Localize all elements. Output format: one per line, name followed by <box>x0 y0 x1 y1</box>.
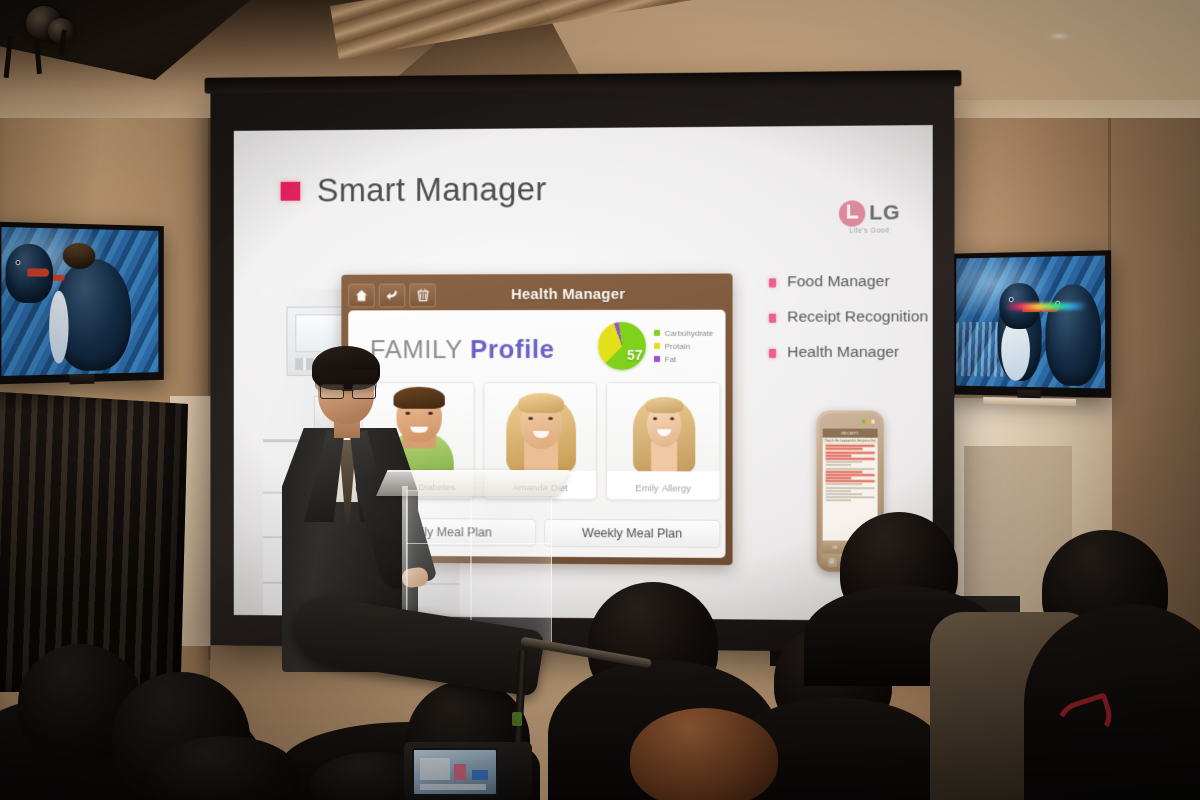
lg-face-icon <box>839 200 865 226</box>
lg-tagline: Life's Good <box>839 227 900 234</box>
audience-head-bald <box>630 708 778 800</box>
legend-label: Carbohydrate <box>665 328 714 337</box>
phone-status-icons <box>862 420 874 424</box>
lcd-content <box>420 758 450 780</box>
pie-legend: Carbohydrate Protain Fat <box>654 328 714 363</box>
lg-mark: LG <box>839 200 900 227</box>
lcd-content-pink <box>454 764 466 780</box>
legend-label: Protain <box>665 341 690 350</box>
receipt-row <box>826 483 862 485</box>
phone-status-bar <box>823 416 878 428</box>
nutrition-summary: 57 Carbohydrate Protain <box>597 322 713 370</box>
bullet-label: Food Manager <box>787 273 889 291</box>
lg-wordmark: LG <box>869 201 900 225</box>
receipt-row <box>826 493 862 495</box>
receipt-row <box>826 467 875 469</box>
receipt-row <box>826 464 851 466</box>
penguin-beak-far <box>53 275 65 281</box>
phone-app-title: RECEIPT <box>841 431 858 435</box>
audience <box>0 540 1200 800</box>
receipt-row <box>826 455 851 457</box>
profile-tag-text: Allergy <box>662 483 691 494</box>
accent-square-icon <box>281 181 301 200</box>
receipt-row <box>826 458 875 460</box>
bullet-label: Health Manager <box>787 344 899 362</box>
ceiling-downlight <box>1042 30 1076 42</box>
back-button[interactable] <box>379 283 406 307</box>
profile-name: Emily Allergy <box>607 482 719 495</box>
list-item: Health Manager <box>769 344 928 362</box>
lg-logo: LG Life's Good <box>839 200 900 235</box>
trash-button[interactable] <box>409 283 436 307</box>
lcd-content <box>420 784 486 790</box>
profile-card-emily[interactable]: Emily Allergy <box>606 382 720 501</box>
eyeglasses-icon <box>320 384 376 397</box>
avatar <box>607 383 719 472</box>
penguin-beak <box>27 268 49 276</box>
receipt-row <box>826 451 875 453</box>
tv-right <box>951 250 1111 398</box>
camera-lcd-screen <box>412 748 498 796</box>
trash-icon <box>417 288 429 301</box>
tv-right-panel <box>956 255 1105 388</box>
legend-item: Protain <box>654 341 714 350</box>
wifi-icon <box>867 420 870 424</box>
signal-icon <box>862 420 865 424</box>
receipt-row <box>826 500 851 502</box>
receipt-row <box>826 490 851 492</box>
app-toolbar: Health Manager <box>348 281 725 309</box>
penguin-eye <box>16 260 21 265</box>
avatar <box>484 383 596 471</box>
list-item: Receipt Recognition <box>769 308 928 326</box>
presentation-photo: Smart Manager LG Life's Good Food Manage… <box>0 0 1200 800</box>
glasses-bridge <box>342 389 354 391</box>
penguin-belly <box>49 291 68 364</box>
pie-value-label: 57 <box>627 347 643 363</box>
home-icon <box>355 289 368 301</box>
tv-left-panel <box>1 227 158 376</box>
penguin-right-body <box>1046 284 1102 386</box>
bullet-square-icon <box>769 313 776 322</box>
legend-swatch-protain <box>654 343 660 349</box>
laser-beam-effect <box>1005 303 1087 310</box>
receipt-row <box>826 496 875 498</box>
heading-accent: Profile <box>470 334 555 364</box>
app-title: Health Manager <box>440 286 726 304</box>
legend-swatch-carbohydrate <box>654 330 660 336</box>
legend-label: Fat <box>665 354 677 363</box>
home-button[interactable] <box>348 283 375 307</box>
legend-swatch-fat <box>654 356 660 362</box>
receipt-row <box>826 477 851 479</box>
profile-name-text: Emily <box>635 483 658 494</box>
receipt-row <box>826 461 862 463</box>
receipt-row <box>826 480 875 482</box>
legend-item: Fat <box>654 354 714 363</box>
list-item: Food Manager <box>769 273 928 292</box>
receipt-row <box>826 487 875 489</box>
slide-title-row: Smart Manager <box>281 170 547 209</box>
battery-icon <box>871 420 874 424</box>
penguin-head-far <box>63 243 96 270</box>
receipt-row <box>826 474 875 476</box>
legend-item: Carbohydrate <box>654 328 714 337</box>
lectern-top-surface <box>376 470 570 496</box>
penguin-left-eye <box>1009 297 1014 302</box>
feature-bullet-list: Food Manager Receipt Recognition Health … <box>769 273 928 379</box>
tv-left-stand <box>70 374 95 385</box>
back-icon <box>385 289 399 301</box>
bullet-square-icon <box>769 278 776 287</box>
bullet-square-icon <box>769 348 776 357</box>
receipt-row <box>826 448 862 450</box>
phone-app-bar: RECEIPT <box>823 429 878 438</box>
receipt-row <box>826 445 875 447</box>
boom-clamp <box>512 712 522 726</box>
bullet-label: Receipt Recognition <box>787 308 928 326</box>
nutrition-pie-chart: 57 <box>597 322 645 370</box>
lcd-content-blue <box>472 770 488 780</box>
tv-left <box>0 222 164 385</box>
page-title: Smart Manager <box>317 170 547 209</box>
receipt-row <box>826 471 862 473</box>
